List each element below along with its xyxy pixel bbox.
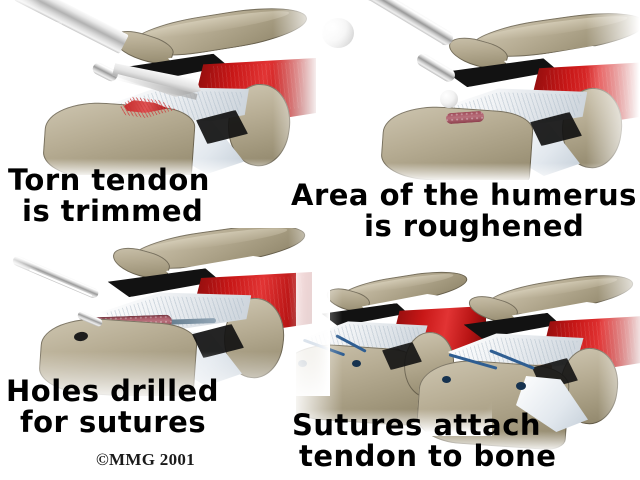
illustration-shoulder-scalpel bbox=[0, 0, 320, 175]
burr-tip bbox=[322, 18, 354, 48]
caption-panel-1-line2: is trimmed bbox=[22, 196, 203, 227]
burr-shaft-lower bbox=[415, 51, 458, 84]
panel-humerus-roughened bbox=[320, 0, 640, 180]
scalpel-handle-fade bbox=[0, 22, 62, 74]
caption-panel-2-line1: Area of the humerus bbox=[291, 180, 637, 211]
illustration-shoulder-drill bbox=[0, 228, 330, 396]
burr-shaft bbox=[342, 0, 456, 48]
caption-panel-4-line2: tendon to bone bbox=[299, 441, 556, 472]
caption-panel-3-line2: for sutures bbox=[20, 407, 206, 438]
illustration-shoulder-burr bbox=[320, 0, 640, 180]
caption-panel-3-line1: Holes drilled bbox=[6, 376, 219, 407]
suture-anchor-knot bbox=[442, 376, 451, 383]
panel-torn-tendon-trimmed bbox=[0, 0, 320, 175]
suture-anchor-knot bbox=[352, 360, 361, 367]
burr-working-end bbox=[440, 90, 458, 108]
caption-panel-4-line1: Sutures attach bbox=[292, 410, 541, 441]
figure-canvas: Torn tendon is trimmed Area of the humer… bbox=[0, 0, 640, 480]
caption-panel-1-line1: Torn tendon bbox=[8, 165, 210, 196]
caption-panel-2-line2: is roughened bbox=[364, 211, 584, 242]
drill-shaft-fade bbox=[0, 280, 46, 314]
suture-anchor-knot bbox=[298, 360, 307, 367]
copyright-notice: ©MMG 2001 bbox=[96, 450, 195, 470]
suture-anchor-knot bbox=[516, 382, 526, 390]
panel-holes-drilled bbox=[0, 228, 330, 396]
